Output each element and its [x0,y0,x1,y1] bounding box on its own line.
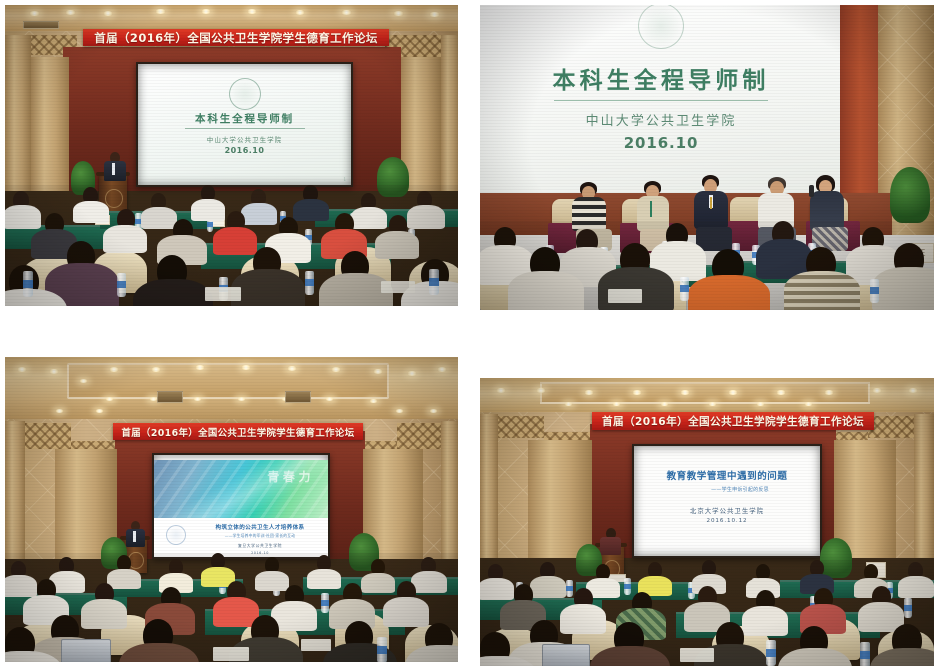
audience-area [5,553,458,662]
speaker-body [600,537,621,555]
photo-bottom-right: 首届（2016年）全国公共卫生学院学生德育工作论坛 教育教学管理中遇到的问题 —… [480,378,934,666]
photo-top-right: 本科生全程导师制 中山大学公共卫生学院 2016.10 [480,5,934,310]
banner-text: 首届（2016年）全国公共卫生学院学生德育工作论坛 [122,425,355,439]
slide-content: 本科生全程导师制 中山大学公共卫生学院 2016.10 [480,5,848,197]
university-seal-icon [166,525,186,545]
slide-content: 教育教学管理中遇到的问题 ——学生申诉引起的反思 北京大学公共卫生学院 2016… [634,446,820,556]
slide-page-number: 1 [343,177,346,182]
laptop [61,639,111,662]
microphone-icon [809,185,814,197]
projection-screen-bottom-left: 青春力 构筑立体的公共卫生人才培养体系 ——学生培养中的军训·社团·家长的互动 … [152,453,330,559]
audience-area [5,185,458,306]
university-seal-icon [229,78,261,110]
slide-subtitle: 中山大学公共卫生学院 [207,134,282,144]
audience-area [480,560,934,666]
projection-screen-top-right: 本科生全程导师制 中山大学公共卫生学院 2016.10 [480,5,848,197]
projection-screen-top-left: 本科生全程导师制 中山大学公共卫生学院 2016.10 1 [136,62,353,187]
hall-banner-bottom-left: 首届（2016年）全国公共卫生学院学生德育工作论坛 [113,423,363,440]
slide-title: 本科生全程导师制 [552,61,769,95]
slide-date: 2016.10.12 [707,518,748,524]
hall-banner-bottom-right: 首届（2016年）全国公共卫生学院学生德育工作论坛 [592,412,874,430]
slide-subtitle: 中山大学公共卫生学院 [586,110,737,129]
slide-subtitle: ——学生申诉引起的反思 [711,486,769,493]
speaker-body [104,161,126,181]
hall-banner-top-left: 首届（2016年）全国公共卫生学院学生德育工作论坛 [83,29,389,46]
slide-content: 本科生全程导师制 中山大学公共卫生学院 2016.10 1 [138,64,351,185]
potted-plant [890,167,930,223]
slide-photo-overlay-text: 青春力 [267,468,314,485]
slide-title: 构筑立体的公共卫生人才培养体系 [198,523,322,531]
photo-bottom-left: 首届（2016年）全国公共卫生学院学生德育工作论坛 青春力 构筑立体的公共卫生人… [5,357,458,662]
slide-header-photo: 青春力 [154,460,328,518]
slide-subtitle: ——学生培养中的军训·社团·家长的互动 [198,533,322,539]
banner-text: 首届（2016年）全国公共卫生学院学生德育工作论坛 [94,30,378,46]
projection-screen-bottom-right: 教育教学管理中遇到的问题 ——学生申诉引起的反思 北京大学公共卫生学院 2016… [632,444,822,558]
slide-title: 本科生全程导师制 [195,111,294,126]
photo-top-left: 首届（2016年）全国公共卫生学院学生德育工作论坛 本科生全程导师制 中山大学公… [5,5,458,306]
university-seal-icon [638,5,684,49]
banner-text: 首届（2016年）全国公共卫生学院学生德育工作论坛 [602,414,864,429]
audience-area [480,221,934,310]
slide-title: 教育教学管理中遇到的问题 [667,468,788,482]
slide-date: 2016.10 [225,146,265,155]
slide-organization: 北京大学公共卫生学院 [690,506,764,515]
laptop [542,644,590,666]
slide-date: 2016.10 [624,134,699,152]
slide-organization: 复旦大学公共卫生学院 [198,543,322,549]
photo-grid: 首届（2016年）全国公共卫生学院学生德育工作论坛 本科生全程导师制 中山大学公… [0,0,939,666]
